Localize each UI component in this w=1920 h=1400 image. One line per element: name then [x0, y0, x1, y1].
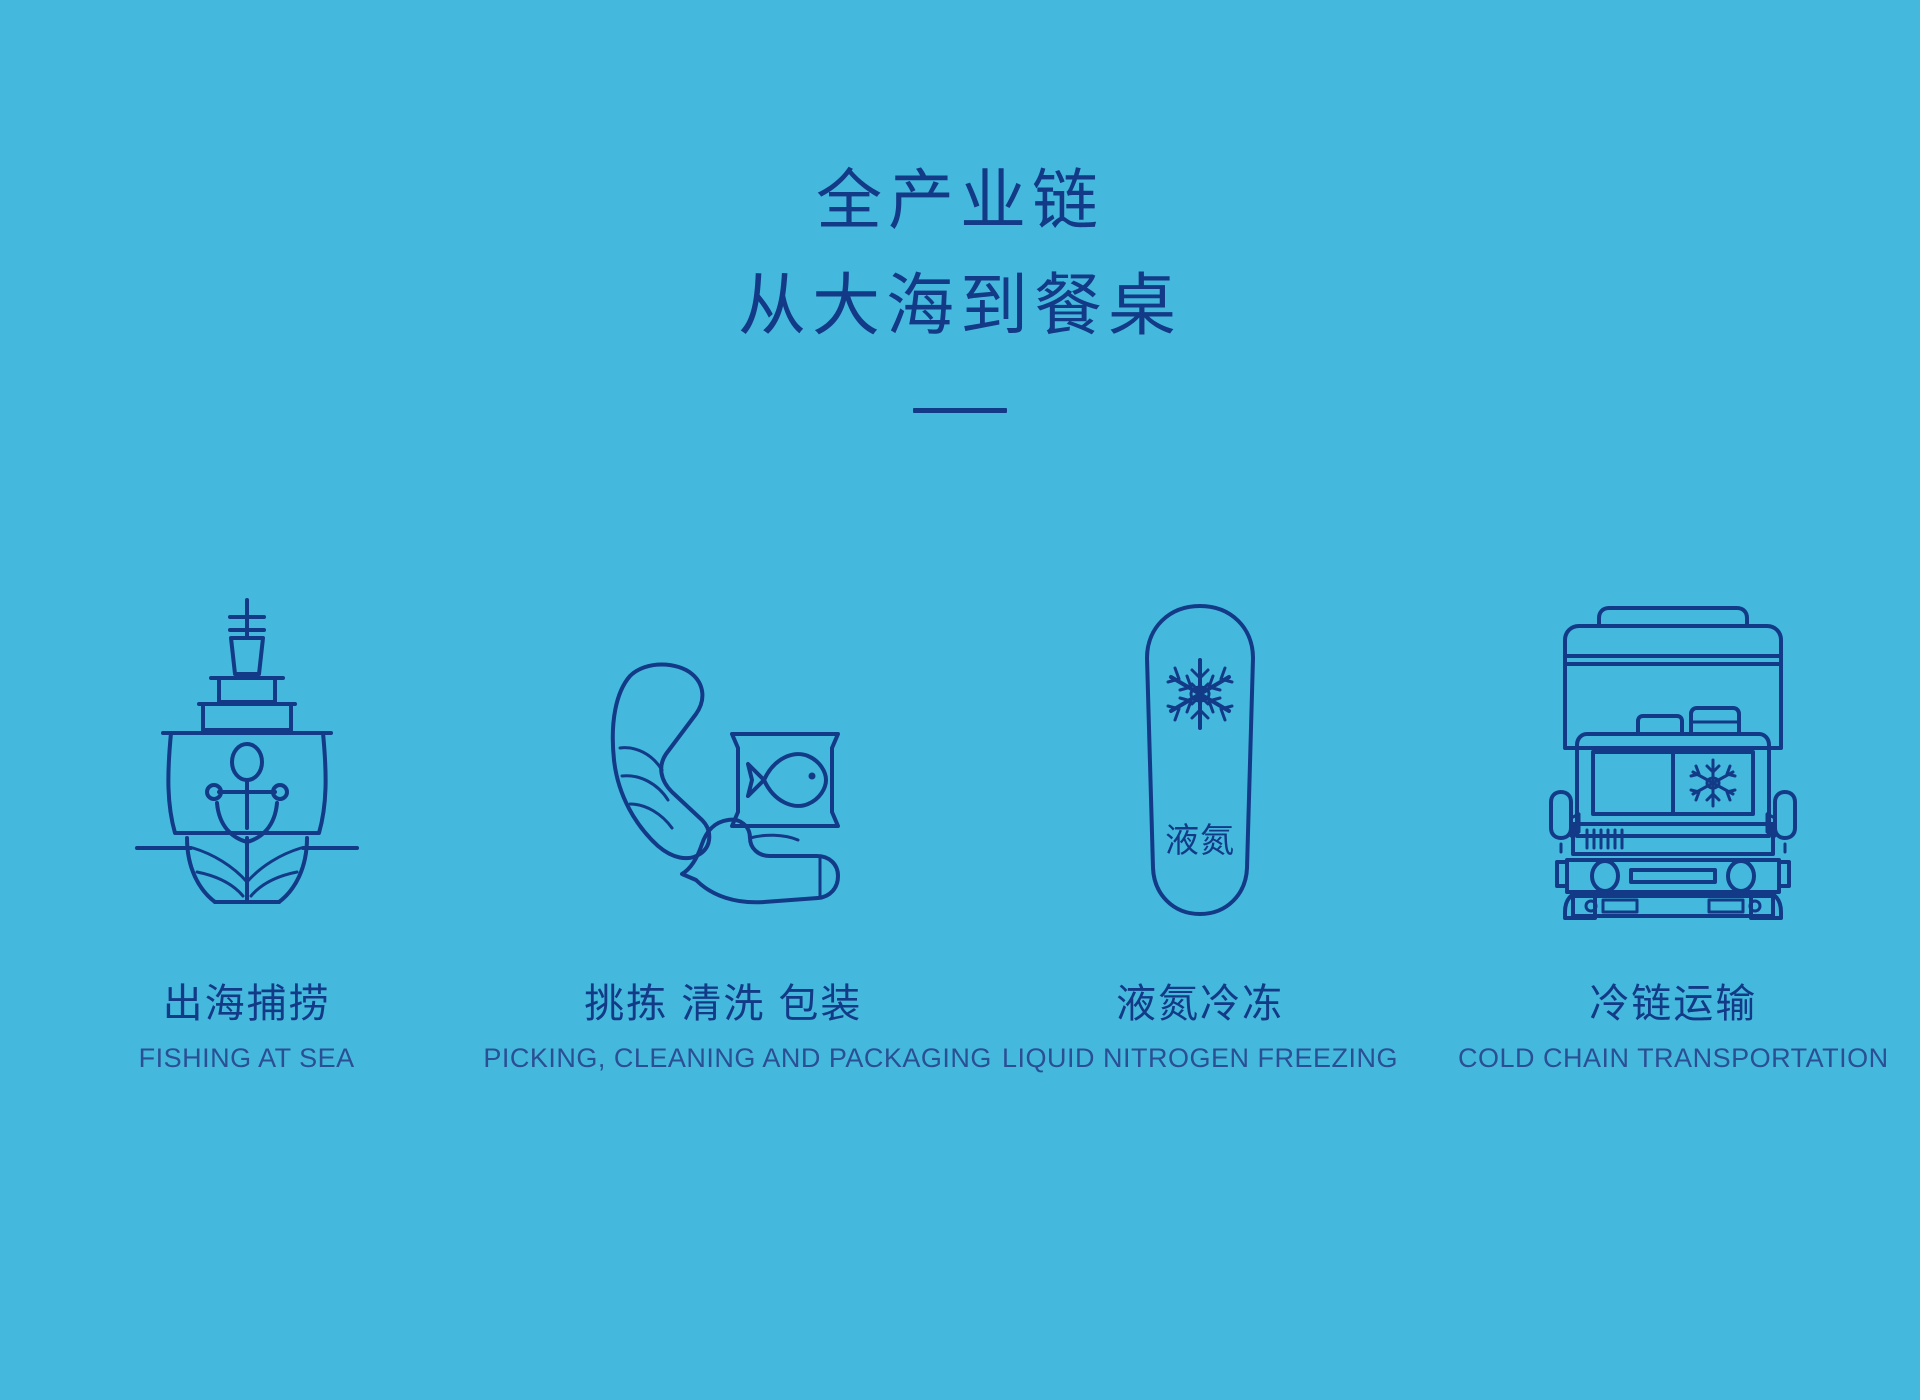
step-label-cn: 出海捕捞 — [10, 980, 483, 1028]
step-liquid-nitrogen-freezing[interactable]: 液氮 液氮冷冻 LIQUID NITROGEN FREEZING — [963, 520, 1436, 1076]
snowflake-icon — [1691, 760, 1735, 806]
step-picking-cleaning-packaging[interactable]: 挑拣 清洗 包装 PICKING, CLEANING AND PACKAGING — [483, 520, 963, 1076]
step-label-en: COLD CHAIN TRANSPORTATION — [1437, 1040, 1910, 1076]
title-divider — [913, 408, 1007, 413]
snowflake-icon — [1168, 660, 1232, 728]
hands-fish-package-icon — [588, 630, 858, 920]
page-title-line-1: 全产业链 — [0, 150, 1920, 254]
process-steps: 出海捕捞 FISHING AT SEA — [0, 520, 1920, 1076]
fishing-boat-anchor-icon — [127, 590, 367, 920]
infographic-canvas: 全产业链 从大海到餐桌 — [0, 0, 1920, 1400]
header: 全产业链 从大海到餐桌 — [0, 150, 1920, 406]
step-labels: 液氮冷冻 LIQUID NITROGEN FREEZING — [963, 980, 1436, 1076]
title-divider-wrap — [0, 400, 1920, 406]
step-label-cn: 挑拣 清洗 包装 — [483, 980, 963, 1028]
step-cold-chain-transportation[interactable]: 冷链运输 COLD CHAIN TRANSPORTATION — [1437, 520, 1910, 1076]
step-icon-box — [1543, 520, 1803, 920]
step-fishing-at-sea[interactable]: 出海捕捞 FISHING AT SEA — [10, 520, 483, 1076]
refrigerated-truck-icon — [1543, 600, 1803, 920]
step-labels: 挑拣 清洗 包装 PICKING, CLEANING AND PACKAGING — [483, 980, 963, 1076]
step-icon-box — [588, 520, 858, 920]
step-label-en: PICKING, CLEANING AND PACKAGING — [483, 1040, 963, 1076]
step-labels: 冷链运输 COLD CHAIN TRANSPORTATION — [1437, 980, 1910, 1076]
page-title-line-2: 从大海到餐桌 — [0, 254, 1920, 358]
nitrogen-tank-text: 液氮 — [1165, 822, 1235, 860]
step-label-cn: 液氮冷冻 — [963, 980, 1436, 1028]
step-icon-box — [127, 520, 367, 920]
step-label-en: FISHING AT SEA — [10, 1040, 483, 1076]
step-label-cn: 冷链运输 — [1437, 980, 1910, 1028]
step-labels: 出海捕捞 FISHING AT SEA — [10, 980, 483, 1076]
liquid-nitrogen-snowflake-icon: 液氮 — [1135, 600, 1265, 920]
step-icon-box: 液氮 — [1135, 520, 1265, 920]
step-label-en: LIQUID NITROGEN FREEZING — [963, 1040, 1436, 1076]
